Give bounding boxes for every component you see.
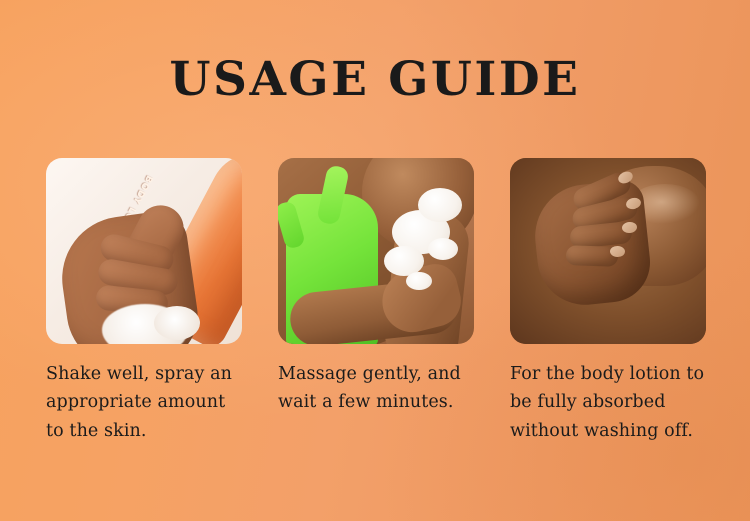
steps-container: BODY LOTION MOUSSE Logo FOR MEN Shake we… bbox=[46, 158, 706, 445]
step-card-1: BODY LOTION MOUSSE Logo FOR MEN Shake we… bbox=[46, 158, 242, 445]
step-1-caption: Shake well, spray an appropriate amount … bbox=[46, 360, 242, 445]
step-2-caption: Massage gently, and wait a few minutes. bbox=[278, 360, 474, 417]
lotion-foam-shape bbox=[428, 238, 458, 260]
step-2-image bbox=[278, 158, 474, 344]
lotion-foam-shape bbox=[406, 272, 432, 290]
usage-guide-poster: USAGE GUIDE BODY LOTION MOUSSE Logo FOR … bbox=[0, 0, 750, 521]
lotion-foam-shape bbox=[418, 188, 462, 222]
page-title: USAGE GUIDE bbox=[0, 52, 750, 107]
step-1-image: BODY LOTION MOUSSE Logo FOR MEN bbox=[46, 158, 242, 344]
step-3-image bbox=[510, 158, 706, 344]
step-card-2: Massage gently, and wait a few minutes. bbox=[278, 158, 474, 445]
step-card-3: For the body lotion to be fully absorbed… bbox=[510, 158, 706, 445]
step-3-caption: For the body lotion to be fully absorbed… bbox=[510, 360, 706, 445]
foam-shape bbox=[154, 306, 200, 340]
